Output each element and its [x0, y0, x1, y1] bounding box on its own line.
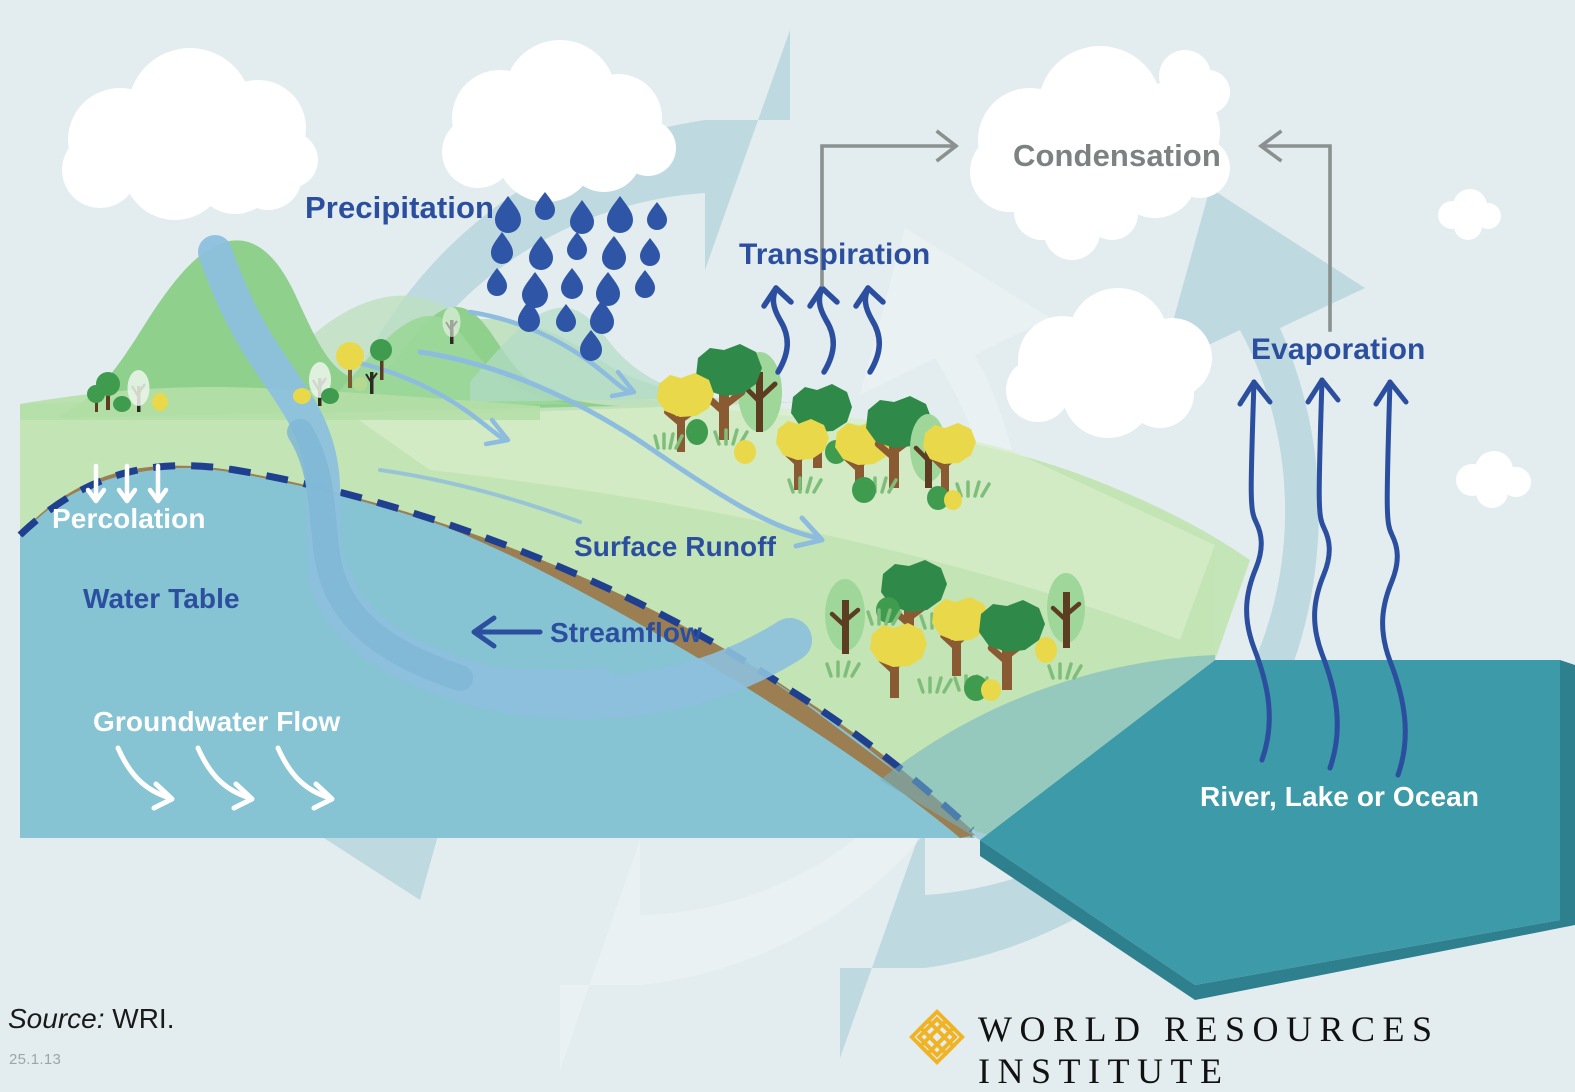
source-value: WRI.: [112, 1003, 174, 1034]
version-number: 25.1.13: [9, 1051, 61, 1068]
cloud-precipitation: [442, 40, 676, 202]
water-cycle-diagram: Precipitation Condensation Transpiration…: [0, 0, 1575, 1088]
surface-runoff-label: Surface Runoff: [574, 531, 776, 563]
cloud-lower-right: [1006, 288, 1212, 438]
cloud-top-left: [62, 48, 318, 220]
wri-wordmark: WORLD RESOURCES INSTITUTE: [978, 1008, 1575, 1092]
process-layer: [0, 0, 1575, 1088]
source-prefix: Source:: [8, 1003, 105, 1034]
transpiration-arrows: [764, 288, 883, 372]
evaporation-arrows: [1240, 380, 1406, 775]
river-lake-ocean-label: River, Lake or Ocean: [1200, 781, 1479, 813]
raindrops: [487, 192, 667, 361]
condensation-label: Condensation: [1013, 138, 1221, 174]
groundwater-flow-label: Groundwater Flow: [93, 706, 340, 738]
water-table-label: Water Table: [83, 583, 240, 615]
source-credit: Source: WRI.: [8, 1003, 175, 1035]
streamflow-label: Streamflow: [550, 617, 702, 649]
transpiration-label: Transpiration: [739, 238, 930, 272]
percolation-arrows: [88, 466, 166, 501]
precipitation-label: Precipitation: [305, 190, 494, 226]
streamflow-arrow: [474, 618, 540, 646]
percolation-label: Percolation: [52, 503, 206, 535]
groundwater-flow-arrows: [118, 748, 332, 808]
cloud-tiny-upper-right: [1438, 189, 1501, 240]
evaporation-label: Evaporation: [1251, 333, 1425, 367]
cloud-tiny-mid-right: [1456, 451, 1531, 508]
wri-logo-icon: [905, 1005, 969, 1069]
